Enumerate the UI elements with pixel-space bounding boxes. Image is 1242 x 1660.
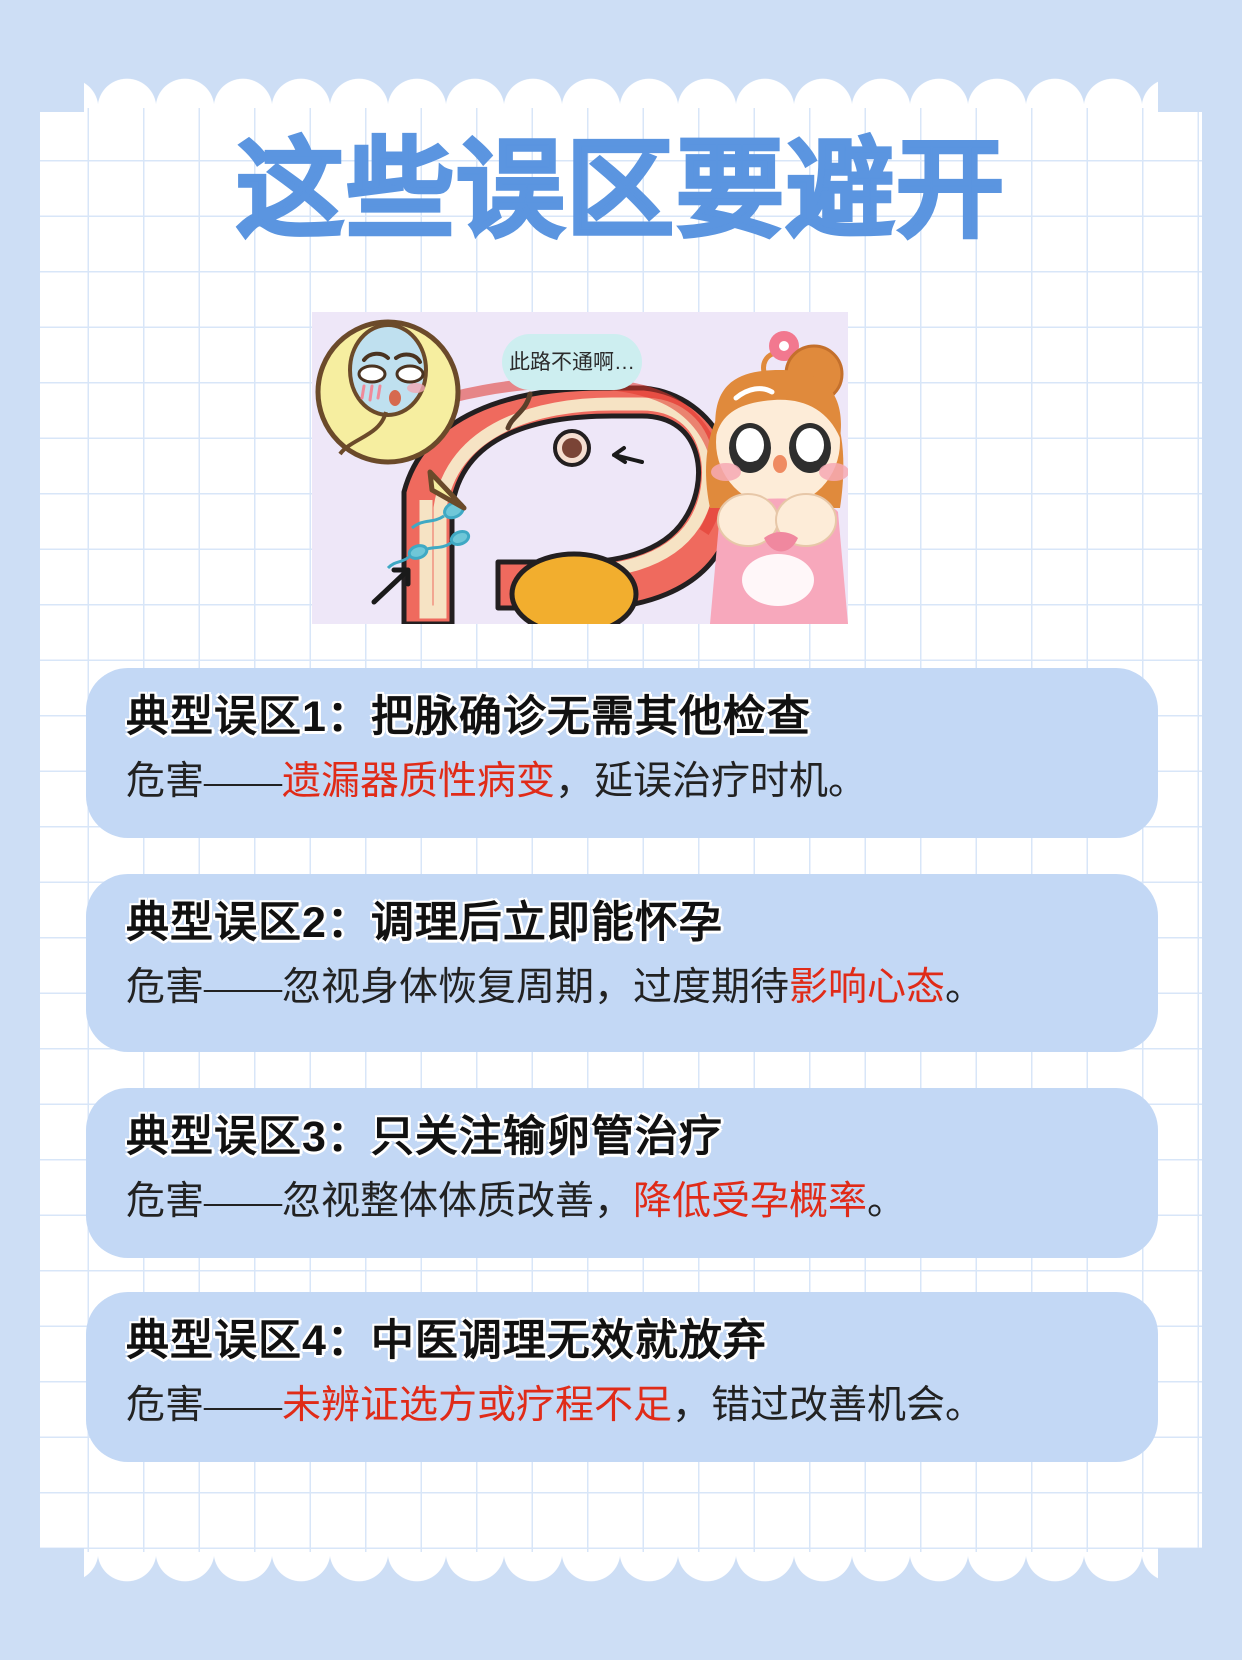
card-2-heading: 典型误区2：调理后立即能怀孕 (126, 896, 1124, 951)
card-4-body-highlight: 未辨证选方或疗程不足 (282, 1384, 672, 1427)
card-1-body-prefix: 危害—— (126, 760, 282, 803)
card-1-heading: 典型误区1：把脉确诊无需其他检查 (126, 690, 1124, 745)
misconception-card-2[interactable]: 典型误区2：调理后立即能怀孕 危害——忽视身体恢复周期，过度期待影响心态。 (86, 874, 1158, 1052)
card-4-body-prefix: 危害—— (126, 1384, 282, 1427)
card-1-body-suffix: ，延误治疗时机。 (555, 760, 867, 803)
card-1-body-highlight: 遗漏器质性病变 (282, 760, 555, 803)
card-2-body-suffix: 。 (945, 966, 984, 1009)
card-4-body-suffix: ，错过改善机会。 (672, 1384, 984, 1427)
corner-mask-bottom-right (1158, 1548, 1202, 1608)
card-2-body-highlight: 影响心态 (789, 966, 945, 1009)
card-3-heading: 典型误区3：只关注输卵管治疗 (126, 1110, 1124, 1165)
card-3-body-prefix: 危害——忽视整体体质改善， (126, 1180, 633, 1223)
card-3-body-highlight: 降低受孕概率 (633, 1180, 867, 1223)
corner-mask-top-left (40, 52, 84, 112)
card-3-body-suffix: 。 (867, 1180, 906, 1223)
card-2-body-prefix: 危害——忽视身体恢复周期，过度期待 (126, 966, 789, 1009)
card-2-body: 危害——忽视身体恢复周期，过度期待影响心态。 (126, 963, 1124, 1014)
misconception-card-4[interactable]: 典型误区4：中医调理无效就放弃 危害——未辨证选方或疗程不足，错过改善机会。 (86, 1292, 1158, 1462)
corner-mask-top-right (1158, 52, 1202, 112)
card-3-body: 危害——忽视整体体质改善，降低受孕概率。 (126, 1177, 1124, 1228)
corner-mask-bottom-left (40, 1548, 84, 1608)
medical-illustration: 此路不通啊… (312, 312, 848, 624)
poster-root: 这些误区要避开 (0, 0, 1242, 1660)
misconception-card-1[interactable]: 典型误区1：把脉确诊无需其他检查 危害——遗漏器质性病变，延误治疗时机。 (86, 668, 1158, 838)
misconception-card-3[interactable]: 典型误区3：只关注输卵管治疗 危害——忽视整体体质改善，降低受孕概率。 (86, 1088, 1158, 1258)
card-4-body: 危害——未辨证选方或疗程不足，错过改善机会。 (126, 1381, 1124, 1432)
card-1-body: 危害——遗漏器质性病变，延误治疗时机。 (126, 757, 1124, 808)
speech-bubble-text: 此路不通啊… (509, 351, 635, 374)
card-4-heading: 典型误区4：中医调理无效就放弃 (126, 1314, 1124, 1369)
page-title: 这些误区要避开 (0, 128, 1242, 251)
